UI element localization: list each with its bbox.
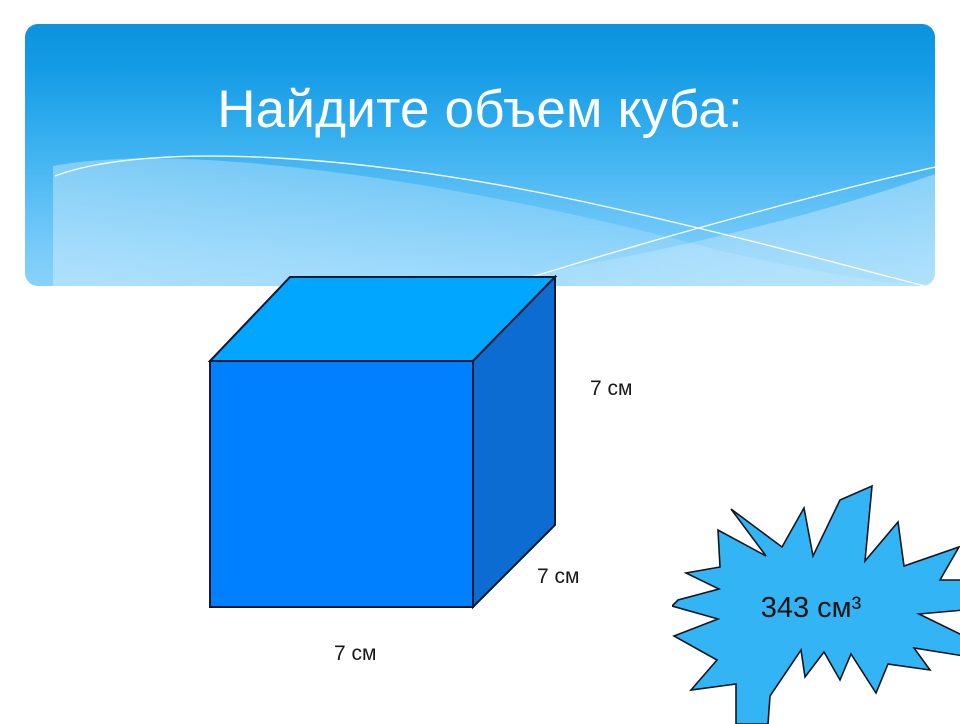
cube-svg xyxy=(195,262,575,622)
dimension-label-height: 7 см xyxy=(590,377,632,401)
dimension-label-depth: 7 см xyxy=(537,565,579,589)
answer-value: 343 см³ xyxy=(672,592,960,625)
cube-front-face xyxy=(210,361,473,607)
cube-figure xyxy=(195,262,575,622)
page-title: Найдите объем куба: xyxy=(25,82,935,138)
title-banner: Найдите объем куба: xyxy=(25,24,935,286)
dimension-label-width: 7 см xyxy=(334,642,376,666)
banner-swoosh-decoration xyxy=(25,24,935,286)
slide-canvas: Найдите объем куба: 7 см 7 см 7 см 343 с… xyxy=(0,0,960,720)
